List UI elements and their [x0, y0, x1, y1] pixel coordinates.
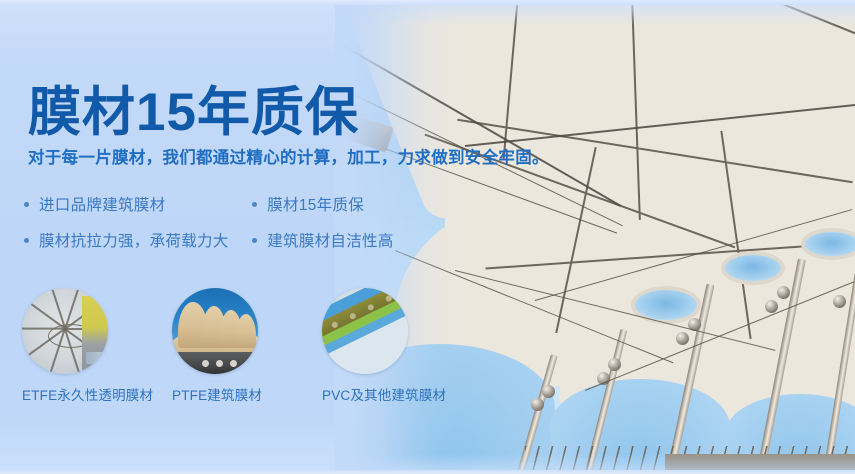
- feature-list: 进口品牌建筑膜材 膜材15年质保 膜材抗拉力强，承荷载力大 建筑膜材自洁性高: [24, 186, 444, 258]
- cable-fitting: [765, 300, 778, 313]
- bullet-dot-icon: [24, 202, 29, 207]
- facade-detail: [86, 352, 106, 364]
- feature-row: 进口品牌建筑膜材 膜材15年质保: [24, 186, 444, 222]
- membrane-warranty-banner: 膜材15年质保 对于每一片膜材，我们都通过精心的计算，加工，力求做到安全牢固。 …: [0, 0, 855, 474]
- cable-fitting: [833, 295, 846, 308]
- base-window: [216, 360, 223, 367]
- building-base: [172, 352, 258, 374]
- thumbnail-caption: PTFE建筑膜材: [172, 384, 262, 404]
- bullet-dot-icon: [24, 238, 29, 243]
- feature-label: 进口品牌建筑膜材: [39, 193, 165, 215]
- feature-label: 膜材15年质保: [267, 193, 364, 215]
- cable-fitting: [608, 358, 621, 371]
- canopy-opening: [725, 255, 781, 281]
- banner-content: 膜材15年质保 对于每一片膜材，我们都通过精心的计算，加工，力求做到安全牢固。 …: [0, 0, 470, 474]
- feature-label: 膜材抗拉力强，承荷载力大: [39, 229, 229, 251]
- base-window: [230, 360, 237, 367]
- cable-fitting: [676, 332, 689, 345]
- bottom-edge-highlight: [0, 470, 855, 474]
- thumbnail-item-ptfe[interactable]: PTFE建筑膜材: [172, 288, 292, 374]
- bullet-dot-icon: [252, 238, 257, 243]
- list-item: 建筑膜材自洁性高: [252, 229, 444, 251]
- etfe-dome-photo: [22, 288, 108, 374]
- page-title: 膜材15年质保: [28, 83, 359, 143]
- banner-subtitle: 对于每一片膜材，我们都通过精心的计算，加工，力求做到安全牢固。: [28, 147, 549, 169]
- list-item: 膜材抗拉力强，承荷载力大: [24, 229, 252, 251]
- ptfe-tent-photo: [172, 288, 258, 374]
- canopy-opening: [635, 290, 697, 320]
- cable-fitting: [542, 385, 555, 398]
- feature-label: 建筑膜材自洁性高: [267, 229, 393, 251]
- cable-fitting: [531, 398, 544, 411]
- base-window: [202, 360, 209, 367]
- thumbnail-caption: ETFE永久性透明膜材: [22, 384, 153, 404]
- top-edge-highlight: [0, 0, 855, 5]
- canopy-opening: [805, 232, 855, 256]
- thumbnail-item-pvc[interactable]: PVC及其他建筑膜材: [322, 288, 442, 374]
- list-item: 膜材15年质保: [252, 193, 444, 215]
- pvc-rolls-photo: [322, 288, 408, 374]
- bullet-dot-icon: [252, 202, 257, 207]
- list-item: 进口品牌建筑膜材: [24, 193, 252, 215]
- thumbnail-caption: PVC及其他建筑膜材: [322, 384, 446, 404]
- cable-fitting: [777, 286, 790, 299]
- thumbnail-item-etfe[interactable]: ETFE永久性透明膜材: [22, 288, 142, 374]
- feature-row: 膜材抗拉力强，承荷载力大 建筑膜材自洁性高: [24, 222, 444, 258]
